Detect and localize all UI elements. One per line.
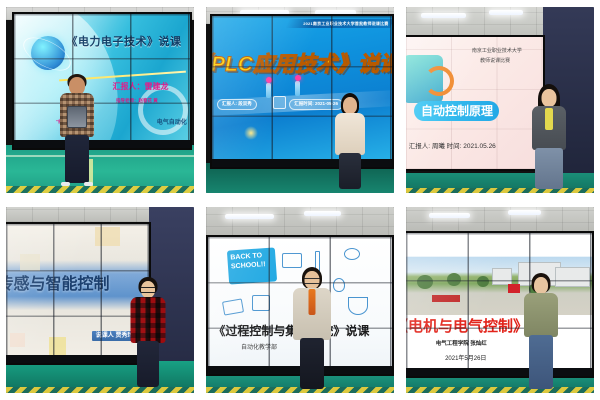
collage-cell-5[interactable]: BACK TO SCHOOL!! 《过程控制与集散系统》说课 自动化教学部 — [200, 200, 400, 400]
photo-collage: 《电力电子技术》说课 汇报人：雷建龙 指导老师：赵春花 黄 电气自动化 “统一一… — [0, 0, 600, 400]
photo-panel-1: 《电力电子技术》说课 汇报人：雷建龙 指导老师：赵春花 黄 电气自动化 “统一一… — [6, 7, 194, 193]
slide-title-pill-3: 自动控制原理 — [414, 101, 499, 121]
collage-cell-4[interactable]: 传感与智能控制 说课人 贾秀玲 — [0, 200, 200, 400]
photo-panel-6: 《电机与电气控制》说课 电气工程学院 张灿红 2021年5月26日 — [406, 207, 594, 393]
doodle-book — [282, 253, 302, 268]
slide-title-2: 《PLC应用技术》说课 — [212, 54, 393, 75]
circle-graphic — [138, 85, 188, 135]
scarf — [308, 289, 315, 315]
video-wall-6: 《电机与电气控制》说课 电气工程学院 张灿红 2021年5月26日 — [406, 233, 592, 376]
campus-photo — [406, 257, 592, 314]
doodle-apple — [333, 278, 345, 292]
slide-org-line-2: 教师说课比赛 — [480, 59, 510, 64]
collage-cell-1[interactable]: 《电力电子技术》说课 汇报人：雷建龙 指导老师：赵春花 黄 电气自动化 “统一一… — [0, 0, 200, 200]
collage-cell-3[interactable]: 南京工业职业技术大学 教师说课比赛 自动控制原理 汇报人: 周曦 时间: 202… — [400, 0, 600, 200]
back-to-school-doodle: BACK TO SCHOOL!! — [227, 247, 277, 284]
slide-department-6: 电气工程学院 张灿红 — [436, 342, 487, 348]
presenter-6 — [520, 273, 562, 389]
signal-dot — [266, 77, 272, 83]
photo-panel-4: 传感与智能控制 说课人 贾秀玲 — [6, 207, 194, 393]
slide-title-4: 传感与智能控制 — [6, 277, 109, 293]
slide-title-3: 自动控制原理 — [421, 105, 493, 117]
photo-panel-2: 2021南京工业职业技术大学首批教师说课比赛 《PLC应用技术》说课 汇报人: … — [206, 7, 394, 193]
presenter-3 — [527, 84, 571, 189]
robot-arm-illustration — [424, 66, 454, 96]
photo-panel-3: 南京工业职业技术大学 教师说课比赛 自动控制原理 汇报人: 周曦 时间: 202… — [406, 7, 594, 193]
inner-top — [545, 108, 553, 130]
presenter-4 — [126, 277, 170, 387]
ceiling — [206, 207, 394, 239]
glasses-icon — [141, 287, 155, 293]
presenter-1 — [55, 74, 99, 186]
slide-title-1: 《电力电子技术》说课 — [67, 37, 182, 48]
screen-bezel — [406, 368, 592, 376]
screen-bezel — [14, 140, 191, 148]
projection-screen-3: 南京工业职业技术大学 教师说课比赛 自动控制原理 汇报人: 周曦 时间: 202… — [406, 37, 543, 169]
calendar-icon — [273, 96, 286, 109]
presenter-2 — [330, 93, 370, 189]
decor-square — [10, 333, 24, 347]
glow-dot — [244, 126, 258, 140]
doodle-ruler — [348, 297, 368, 315]
slide-presenter-tag-2: 汇报人: 段双秀 — [217, 99, 257, 110]
glasses-icon — [304, 278, 319, 284]
collage-cell-2[interactable]: 2021南京工业职业技术大学首批教师说课比赛 《PLC应用技术》说课 汇报人: … — [200, 0, 400, 200]
traffic-light-icon — [295, 81, 300, 96]
slide-presenter-1: 汇报人：雷建龙 — [112, 83, 168, 91]
slide-footer-3: 汇报人: 周曦 时间: 2021.05.26 — [409, 144, 496, 151]
decor-square — [20, 254, 40, 271]
doodle-magnifier — [344, 248, 360, 260]
ceiling — [406, 207, 594, 235]
slide-date-6: 2021年5月26日 — [445, 356, 486, 362]
collage-cell-6[interactable]: 《电机与电气控制》说课 电气工程学院 张灿红 2021年5月26日 — [400, 200, 600, 400]
slide-subline-1: 指导老师：赵春花 黄 — [116, 99, 158, 104]
slide-badge-1: 电气自动化 — [157, 120, 187, 126]
slide-department-5: 自动化教学部 — [241, 345, 277, 351]
doodle-notebook — [222, 298, 244, 315]
decor-square — [95, 227, 121, 247]
photo-panel-5: BACK TO SCHOOL!! 《过程控制与集散系统》说课 自动化教学部 — [206, 207, 394, 393]
held-tablet — [67, 106, 87, 128]
decor-square — [49, 337, 66, 355]
presenter-5 — [289, 267, 335, 389]
traffic-light-icon — [266, 83, 271, 98]
slide-org-line-1: 南京工业职业技术大学 — [472, 49, 522, 54]
floor — [6, 145, 194, 193]
slide-header-2: 2021南京工业职业技术大学首批教师说课比赛 — [303, 22, 388, 26]
video-wall-1: 《电力电子技术》说课 汇报人：雷建龙 指导老师：赵春花 黄 电气自动化 “统一一… — [14, 14, 191, 148]
doodle-checkbox — [252, 295, 270, 311]
